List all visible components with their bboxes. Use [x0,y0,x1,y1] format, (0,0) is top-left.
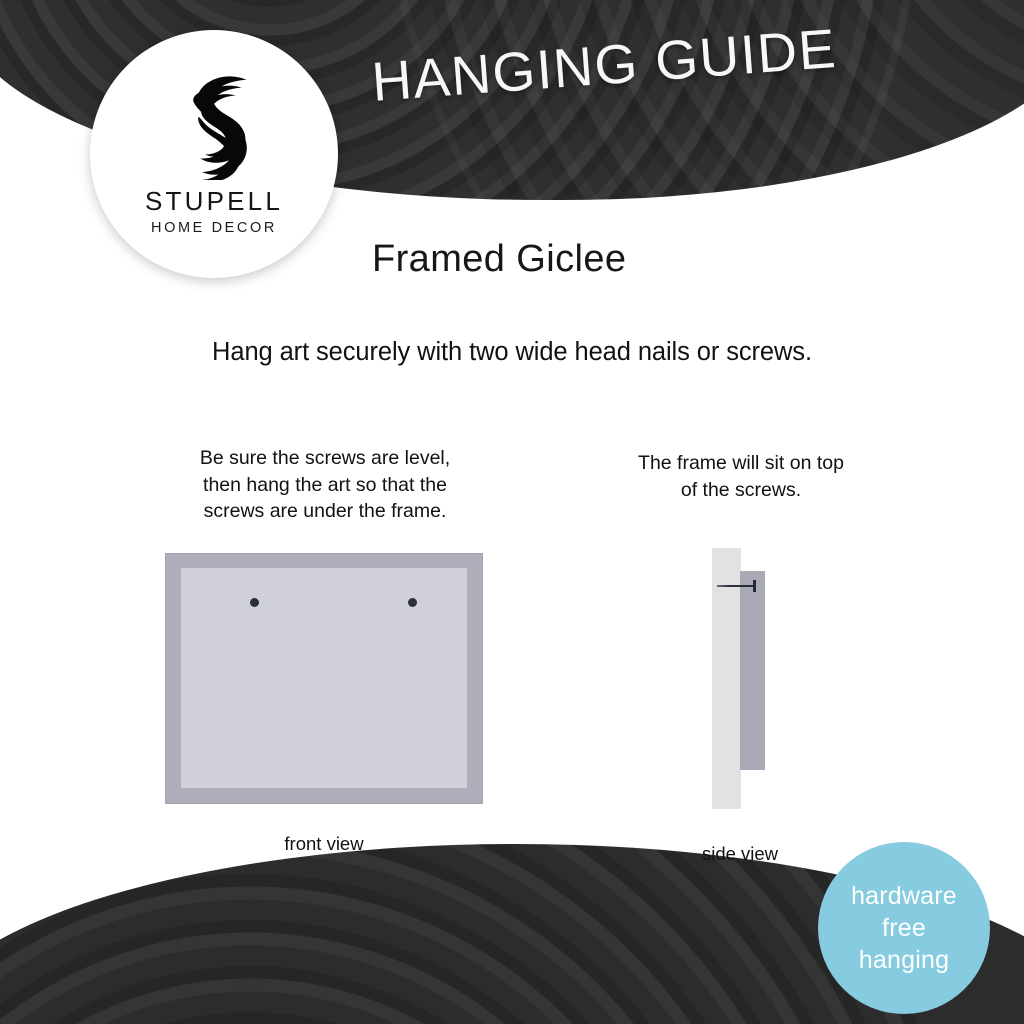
nail-icon [717,584,760,588]
side-caption-line-2: of the screws. [596,477,886,504]
front-view-label: front view [165,833,483,855]
nail-head [753,580,756,592]
side-view-label: side view [660,843,820,865]
logo-brand-subtitle: HOME DECOR [151,220,277,236]
product-type-label: Framed Giclee [372,238,626,281]
badge-line-1: hardware [851,880,957,912]
side-view-frame-strip [740,571,765,770]
badge-line-3: hanging [859,944,949,976]
side-view-caption: The frame will sit on top of the screws. [596,450,886,503]
stupell-swoosh-icon [155,62,273,180]
side-caption-line-1: The frame will sit on top [596,450,886,477]
lead-instruction: Hang art securely with two wide head nai… [0,338,1024,367]
front-view-caption: Be sure the screws are level, then hang … [160,445,490,525]
nail-shaft [717,585,755,587]
screw-dot-left [250,598,259,607]
brand-logo-badge: STUPELL HOME DECOR [90,30,338,278]
front-caption-line-2: then hang the art so that the [160,472,490,499]
front-caption-line-1: Be sure the screws are level, [160,445,490,472]
hardware-free-hanging-badge: hardware free hanging [818,842,990,1014]
front-caption-line-3: screws are under the frame. [160,498,490,525]
badge-line-2: free [882,912,926,944]
hanging-guide-page: HANGING GUIDE STUPELL HOME DECOR Framed … [0,0,1024,1024]
front-view-frame-diagram [165,553,483,804]
screw-dot-right [408,598,417,607]
logo-brand-name: STUPELL [145,186,283,217]
frame-inner-panel [181,568,467,788]
